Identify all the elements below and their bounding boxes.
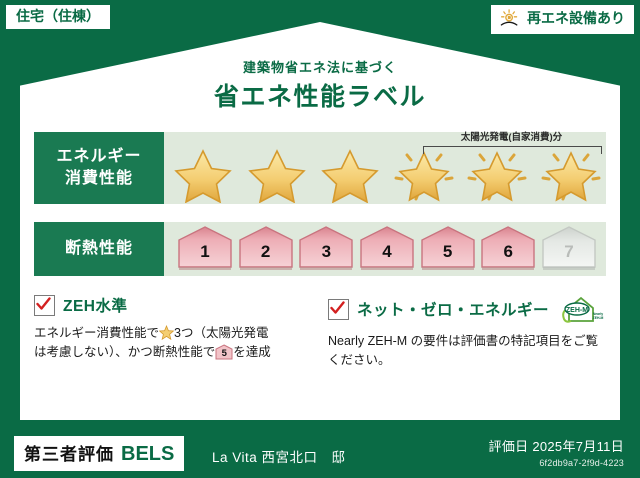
zeh-desc-part3: を達成 <box>233 345 271 359</box>
insulation-label-text: 断熱性能 <box>65 238 133 260</box>
zeh-desc-stars: 3つ（太陽光発電 <box>174 326 268 340</box>
inline-star-icon <box>159 325 174 340</box>
energy-performance-label: エネルギー 消費性能 <box>34 132 164 204</box>
criteria-zeh-column: ZEH水準 エネルギー消費性能で3つ（太陽光発電 は考慮しない）、かつ断熱性能で… <box>34 294 312 386</box>
criteria-nzeb-header: ネット・ゼロ・エネルギー ZEH-M Nearly ZEH-M <box>328 294 606 324</box>
title-subtitle: 建築物省エネ法に基づく <box>20 60 620 76</box>
badge-number: 1 <box>176 242 234 262</box>
insulation-rating-area: 1 2 3 <box>164 222 606 276</box>
inline-insulation-badge-icon: 5 <box>215 344 233 360</box>
inline-badge-number: 5 <box>215 347 233 362</box>
star-rating <box>172 148 602 202</box>
criteria-section: ZEH水準 エネルギー消費性能で3つ（太陽光発電 は考慮しない）、かつ断熱性能で… <box>34 294 606 386</box>
star-6-solar <box>540 147 602 203</box>
insulation-badge-5: 5 <box>419 226 477 272</box>
badge-number: 3 <box>297 242 355 262</box>
footer: 第三者評価 BELS La Vita 西宮北口 邸 評価日 2025年7月11日… <box>0 426 640 478</box>
insulation-performance-row: 断熱性能 1 <box>34 222 606 276</box>
label-title-block: 建築物省エネ法に基づく 省エネ性能ラベル <box>20 60 620 112</box>
badge-number: 5 <box>419 242 477 262</box>
bels-jp-label: 第三者評価 <box>24 440 114 465</box>
criteria-nzeb-column: ネット・ゼロ・エネルギー ZEH-M Nearly ZEH-M Nearly Z… <box>328 294 606 386</box>
insulation-badge-7-inactive: 7 <box>540 226 598 272</box>
insulation-badge-list: 1 2 3 <box>176 226 598 272</box>
evaluation-info: 評価日 2025年7月11日 6f2db9a7-2f9d-4223 <box>489 436 624 468</box>
star-2 <box>246 147 308 203</box>
zeh-m-logo-icon: ZEH-M Nearly ZEH-M <box>557 294 605 324</box>
badge-number: 4 <box>358 242 416 262</box>
zeh-checkbox-checked <box>34 295 55 316</box>
star-3 <box>319 147 381 203</box>
evaluation-id: 6f2db9a7-2f9d-4223 <box>489 458 624 468</box>
badge-number: 6 <box>479 242 537 262</box>
star-4-solar <box>393 147 455 203</box>
renewable-badge-label: 再エネ設備あり <box>527 11 625 26</box>
badge-number: 2 <box>237 242 295 262</box>
renewable-equipment-badge: 再エネ設備あり <box>491 5 634 34</box>
building-name: La Vita 西宮北口 邸 <box>212 446 346 466</box>
insulation-badge-6: 6 <box>479 226 537 272</box>
zeh-title: ZEH水準 <box>63 294 128 316</box>
energy-label-root: 住宅（住棟） 再エネ設備あり 建築物省エネ法に基づく 省 <box>0 0 640 478</box>
insulation-badge-1: 1 <box>176 226 234 272</box>
insulation-badge-3: 3 <box>297 226 355 272</box>
zeh-desc-part2: は考慮しない）、かつ断熱性能で <box>34 345 215 359</box>
zeh-desc-part1: エネルギー消費性能で <box>34 326 159 340</box>
solar-bracket-label: 太陽光発電(自家消費)分 <box>419 129 604 143</box>
zeh-description: エネルギー消費性能で3つ（太陽光発電 は考慮しない）、かつ断熱性能で5を達成 <box>34 324 312 363</box>
nzeb-description: Nearly ZEH-M の要件は評価書の特記項目をご覧ください。 <box>328 332 606 371</box>
criteria-zeh-header: ZEH水準 <box>34 294 312 316</box>
star-5-solar <box>466 147 528 203</box>
energy-rating-area: 太陽光発電(自家消費)分 <box>164 132 606 204</box>
category-tag: 住宅（住棟） <box>6 5 110 29</box>
energy-performance-row: エネルギー 消費性能 太陽光発電(自家消費)分 <box>34 132 606 204</box>
insulation-badge-2: 2 <box>237 226 295 272</box>
star-1 <box>172 147 234 203</box>
badge-number: 7 <box>540 242 598 262</box>
nzeb-checkbox-checked <box>328 299 349 320</box>
bels-evaluation-badge: 第三者評価 BELS <box>14 436 184 471</box>
nzeb-title: ネット・ゼロ・エネルギー <box>357 298 549 320</box>
svg-text:ZEH-M: ZEH-M <box>566 307 588 314</box>
energy-label-line2: 消費性能 <box>65 168 133 190</box>
panel-content: 建築物省エネ法に基づく 省エネ性能ラベル エネルギー 消費性能 太陽光発電(自家… <box>20 22 620 420</box>
svg-text:ZEH-M: ZEH-M <box>593 316 604 320</box>
page-title: 省エネ性能ラベル <box>20 82 620 112</box>
solar-generation-bracket: 太陽光発電(自家消費)分 <box>419 132 604 154</box>
energy-label-line1: エネルギー <box>56 146 141 168</box>
sun-icon <box>499 9 521 29</box>
bels-logo-text: BELS <box>121 443 174 466</box>
insulation-badge-4: 4 <box>358 226 416 272</box>
insulation-performance-label: 断熱性能 <box>34 222 164 276</box>
evaluation-date: 評価日 2025年7月11日 <box>489 436 624 455</box>
bracket-line <box>423 146 602 154</box>
